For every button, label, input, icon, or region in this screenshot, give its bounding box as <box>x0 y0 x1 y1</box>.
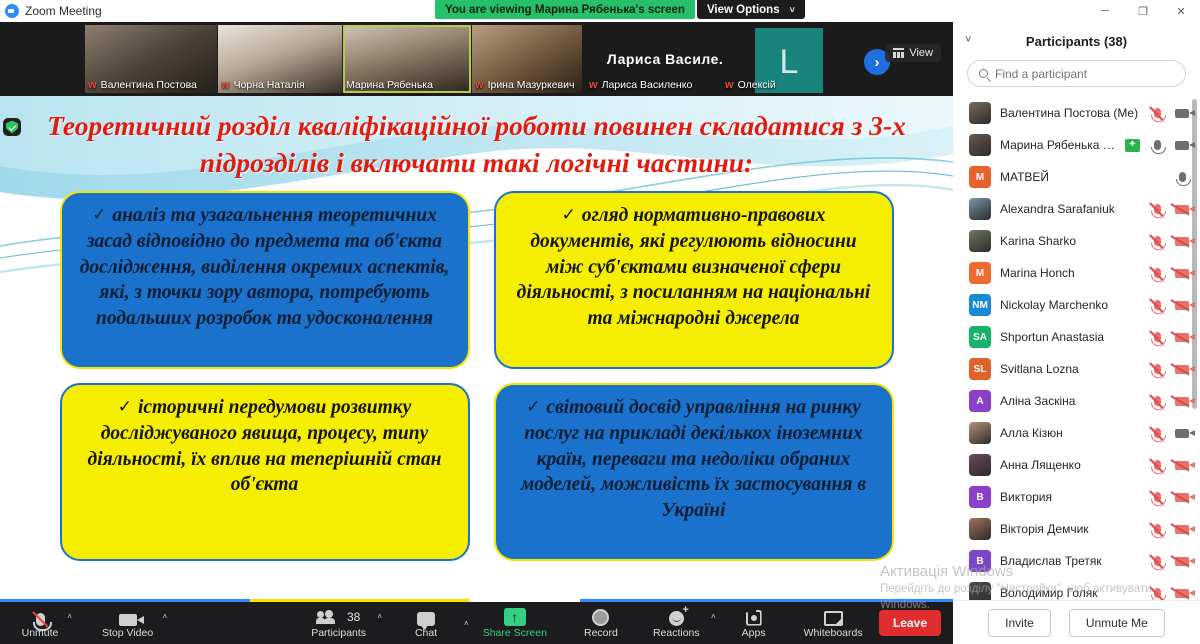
camera-off-icon[interactable] <box>1175 269 1189 278</box>
zoom-logo-icon <box>5 4 19 18</box>
stop-video-label: Stop Video <box>102 627 153 639</box>
mic-toggle[interactable] <box>1149 268 1165 278</box>
avatar: В <box>969 550 991 572</box>
mic-toggle[interactable] <box>1149 524 1165 534</box>
unmute-me-button[interactable]: Unmute Me <box>1069 609 1165 637</box>
camera-off-icon[interactable] <box>1175 365 1189 374</box>
participant-row[interactable]: ВВиктория <box>953 481 1200 513</box>
participant-name: Владислав Третяк <box>1000 554 1140 568</box>
view-options-button[interactable]: View Options ˅ <box>697 0 805 19</box>
camera-icon <box>119 608 137 626</box>
check-icon: ✓ <box>118 397 132 416</box>
grid-icon <box>893 48 904 58</box>
video-thumbnail[interactable]: w Ірина Мазуркевич <box>472 25 582 93</box>
record-button[interactable]: Record <box>575 602 627 644</box>
mic-toggle[interactable] <box>1149 236 1165 246</box>
participant-status-icons <box>1149 300 1190 310</box>
mic-off-icon[interactable] <box>1154 556 1161 566</box>
apps-icon <box>746 608 762 626</box>
mic-toggle[interactable] <box>1149 396 1165 406</box>
thumbnail-label: Марина Рябенька <box>346 79 468 91</box>
chat-button[interactable]: Chat <box>400 602 452 644</box>
mic-toggle[interactable] <box>1149 364 1165 374</box>
share-caret-icon[interactable]: ˄ <box>464 619 469 628</box>
participant-status-icons <box>1149 268 1190 278</box>
search-icon <box>979 69 988 78</box>
participant-status-icons <box>1149 364 1190 374</box>
bullet-box: ✓огляд нормативно-правових документів, я… <box>494 191 894 369</box>
camera-toggle[interactable] <box>1174 397 1190 406</box>
camera-off-icon[interactable] <box>1175 557 1189 566</box>
participants-button[interactable]: 38 Participants ˄ <box>305 602 372 644</box>
participant-status-icons <box>1149 396 1190 406</box>
check-icon: ✓ <box>562 205 576 224</box>
participants-panel-title: Participants (38) <box>953 34 1200 49</box>
avatar: A <box>969 390 991 412</box>
camera-off-icon[interactable] <box>1175 237 1189 246</box>
mic-off-icon[interactable] <box>1154 524 1161 534</box>
camera-toggle[interactable] <box>1174 109 1190 118</box>
participant-row[interactable]: SLSvitlana Lozna <box>953 353 1200 385</box>
invite-button[interactable]: Invite <box>988 609 1051 637</box>
participant-row[interactable]: Karina Sharko <box>953 225 1200 257</box>
camera-toggle[interactable] <box>1174 269 1190 278</box>
camera-toggle[interactable] <box>1174 333 1190 342</box>
participant-row[interactable]: MMarina Honch <box>953 257 1200 289</box>
participants-list[interactable]: Валентина Постова (Me)Марина Рябенька (H… <box>953 97 1200 600</box>
video-thumbnail[interactable]: L w Олексій <box>722 25 854 93</box>
mic-off-icon: w <box>221 80 230 91</box>
viewing-screen-label: You are viewing Марина Рябенька's screen <box>435 0 695 19</box>
participant-status-icons <box>1149 332 1190 342</box>
participant-row[interactable]: Алла Кізюн <box>953 417 1200 449</box>
mic-off-icon[interactable] <box>1154 300 1161 310</box>
chevron-down-icon[interactable]: ˅ <box>965 34 971 46</box>
avatar: В <box>969 486 991 508</box>
camera-on-icon[interactable] <box>1175 141 1189 150</box>
avatar <box>969 134 991 156</box>
mic-toggle[interactable] <box>1149 588 1165 598</box>
video-options-caret-icon[interactable]: ˄ <box>163 612 168 621</box>
apps-label: Apps <box>742 627 766 639</box>
record-label: Record <box>584 627 618 639</box>
window-title: Zoom Meeting <box>25 4 102 18</box>
share-screen-icon <box>504 608 526 626</box>
participants-panel-header: ˅ Participants (38) <box>953 22 1200 60</box>
participants-panel-footer: Invite Unmute Me <box>953 600 1200 644</box>
participant-status-icons <box>1149 204 1190 214</box>
avatar: M <box>969 262 991 284</box>
participants-caret-icon[interactable]: ˄ <box>377 612 382 621</box>
stop-video-button[interactable]: Stop Video ˄ <box>96 602 159 644</box>
participant-name: Вікторія Демчик <box>1000 522 1140 536</box>
camera-toggle[interactable] <box>1174 365 1190 374</box>
camera-toggle[interactable] <box>1174 493 1190 502</box>
camera-toggle[interactable] <box>1174 461 1190 470</box>
avatar <box>969 230 991 252</box>
mic-off-icon[interactable] <box>1154 588 1161 598</box>
participants-label: Participants <box>311 627 366 639</box>
participant-name: Ірина Мазуркевич <box>488 79 575 91</box>
mic-off-icon: w <box>725 80 734 91</box>
participant-name: Shportun Anastasia <box>1000 330 1140 344</box>
video-thumbnail[interactable]: w Валентина Постова <box>85 25 217 93</box>
apps-button[interactable]: Apps <box>728 602 780 644</box>
mic-off-icon: w <box>88 80 97 91</box>
mic-off-icon[interactable] <box>1154 108 1161 118</box>
slide-bullet-boxes: ✓аналіз та узагальнення теоретичних заса… <box>0 191 953 561</box>
camera-toggle[interactable] <box>1174 237 1190 246</box>
whiteboards-label: Whiteboards <box>804 627 863 639</box>
participant-row[interactable]: SAShportun Anastasia <box>953 321 1200 353</box>
avatar <box>969 102 991 124</box>
bullet-box: ✓світовий досвід управління на ринку пос… <box>494 383 894 561</box>
camera-off-icon[interactable] <box>1175 205 1189 214</box>
participant-name: Олексій <box>738 79 776 91</box>
chevron-down-icon: ˅ <box>790 5 795 15</box>
participant-name: Nickolay Marchenko <box>1000 298 1140 312</box>
mic-off-icon <box>36 608 45 626</box>
mic-off-icon[interactable] <box>1154 204 1161 214</box>
camera-on-icon[interactable] <box>1175 429 1189 438</box>
whiteboards-button[interactable]: Whiteboards <box>798 602 869 644</box>
mic-toggle[interactable] <box>1149 108 1165 118</box>
mic-toggle[interactable] <box>1149 428 1165 438</box>
avatar <box>969 454 991 476</box>
camera-toggle[interactable] <box>1174 557 1190 566</box>
participant-name: Алла Кізюн <box>1000 426 1140 440</box>
mic-toggle[interactable] <box>1149 332 1165 342</box>
unmute-button[interactable]: Unmute ˄ <box>14 602 66 644</box>
participant-name: Чорна Наталія <box>234 79 305 91</box>
camera-on-icon[interactable] <box>1175 109 1189 118</box>
search-input[interactable] <box>995 67 1174 81</box>
avatar: SA <box>969 326 991 348</box>
bullet-text: історичні передумови розвитку досліджува… <box>88 397 442 495</box>
camera-off-icon[interactable] <box>1175 333 1189 342</box>
host-badge-icon: ✦ <box>1125 139 1140 152</box>
reactions-label: Reactions <box>653 627 700 639</box>
mic-off-icon[interactable] <box>1154 364 1161 374</box>
participant-name: Валентина Постова <box>101 79 197 91</box>
slide-title: Теоретичний розділ кваліфікаційної робот… <box>0 96 953 181</box>
participant-name: Аліна Заскіна <box>1000 394 1140 408</box>
participant-row[interactable]: Alexandra Sarafaniuk <box>953 193 1200 225</box>
thumbnail-label: w Олексій <box>725 79 851 91</box>
mic-off-icon[interactable] <box>1154 396 1161 406</box>
chat-icon <box>417 608 435 626</box>
camera-toggle[interactable] <box>1174 301 1190 310</box>
participant-status-icons <box>1149 524 1190 534</box>
share-screen-label: Share Screen <box>483 627 547 639</box>
record-icon <box>592 608 609 626</box>
people-icon: 38 <box>317 608 360 626</box>
avatar: NM <box>969 294 991 316</box>
camera-off-icon[interactable] <box>1175 397 1189 406</box>
shared-slide: Теоретичний розділ кваліфікаційної робот… <box>0 96 953 624</box>
participant-row[interactable]: Марина Рябенька (Host)✦ <box>953 129 1200 161</box>
participant-status-icons <box>1149 492 1190 502</box>
bullet-text: світовий досвід управління на ринку посл… <box>521 397 866 521</box>
check-icon: ✓ <box>92 205 106 224</box>
mic-off-icon: w <box>475 80 484 91</box>
maximize-button[interactable]: ❐ <box>1124 0 1162 22</box>
mic-toggle[interactable] <box>1149 204 1165 214</box>
minimize-button[interactable]: ─ <box>1086 0 1124 22</box>
mic-toggle[interactable] <box>1149 300 1165 310</box>
participant-status-icons <box>1149 460 1190 470</box>
participant-name: Лариса Василенко <box>602 79 693 91</box>
avatar: SL <box>969 358 991 380</box>
participant-name: Марина Рябенька (Host) <box>1000 138 1116 152</box>
participant-name: Svitlana Lozna <box>1000 362 1140 376</box>
thumbnail-label: w Чорна Наталія <box>221 79 339 91</box>
mic-on-icon[interactable] <box>1154 140 1161 150</box>
mic-toggle[interactable] <box>1149 492 1165 502</box>
meeting-toolbar: Unmute ˄ Stop Video ˄ 38 <box>0 602 953 644</box>
camera-toggle[interactable] <box>1174 525 1190 534</box>
mic-toggle[interactable] <box>1149 460 1165 470</box>
reactions-button[interactable]: Reactions ˄ <box>647 602 706 644</box>
audio-options-caret-icon[interactable]: ˄ <box>67 612 72 621</box>
bullet-box: ✓аналіз та узагальнення теоретичних заса… <box>60 191 470 369</box>
reactions-caret-icon[interactable]: ˄ <box>711 612 716 621</box>
mic-off-icon[interactable] <box>1154 236 1161 246</box>
mic-toggle[interactable] <box>1149 556 1165 566</box>
thumbnail-label: w Валентина Постова <box>88 79 214 91</box>
participants-panel: ˅ Participants (38) Валентина Постова (M… <box>953 22 1200 644</box>
video-filmstrip: w Валентина Постова w Чорна Наталія Мари… <box>0 22 953 96</box>
thumbnail-label: w Ірина Мазуркевич <box>475 79 579 91</box>
search-container <box>953 60 1200 97</box>
participant-name: Виктория <box>1000 490 1140 504</box>
participant-row[interactable]: Володимир Голяк <box>953 577 1200 600</box>
mic-off-icon[interactable] <box>1154 332 1161 342</box>
window-controls: ─ ❐ ✕ <box>1086 0 1200 22</box>
participant-row[interactable]: Вікторія Демчик <box>953 513 1200 545</box>
camera-toggle[interactable] <box>1174 589 1190 598</box>
reactions-icon <box>669 608 684 626</box>
close-button[interactable]: ✕ <box>1162 0 1200 22</box>
participant-status-icons <box>1149 236 1190 246</box>
check-icon: ✓ <box>526 397 540 416</box>
participant-row[interactable]: AАліна Заскіна <box>953 385 1200 417</box>
participant-name: Karina Sharko <box>1000 234 1140 248</box>
leave-button[interactable]: Leave <box>879 610 941 636</box>
view-options-label: View Options <box>707 4 780 16</box>
participant-row[interactable]: Анна Лященко <box>953 449 1200 481</box>
search-box[interactable] <box>967 60 1186 87</box>
camera-off-icon[interactable] <box>1175 301 1189 310</box>
avatar <box>969 582 991 600</box>
avatar <box>969 518 991 540</box>
bullet-box: ✓історичні передумови розвитку досліджув… <box>60 383 470 561</box>
mic-off-icon[interactable] <box>1154 428 1161 438</box>
mic-off-icon[interactable] <box>1154 492 1161 502</box>
participant-status-icons <box>1149 108 1190 118</box>
camera-off-icon[interactable] <box>1175 525 1189 534</box>
mic-off-icon[interactable] <box>1154 460 1161 470</box>
participants-count: 38 <box>347 610 360 624</box>
whiteboard-icon <box>824 608 843 626</box>
mic-toggle[interactable] <box>1174 172 1190 182</box>
video-thumbnail-active[interactable]: Марина Рябенька <box>343 25 471 93</box>
participant-name: Alexandra Sarafaniuk <box>1000 202 1140 216</box>
camera-toggle[interactable] <box>1174 429 1190 438</box>
camera-off-icon[interactable] <box>1175 493 1189 502</box>
participant-row[interactable]: ВВладислав Третяк <box>953 545 1200 577</box>
view-label: View <box>909 47 933 59</box>
participant-name: Марина Рябенька <box>346 79 433 91</box>
mic-off-icon: w <box>589 80 598 91</box>
mic-on-icon[interactable] <box>1179 172 1186 182</box>
participant-name: Валентина Постова (Me) <box>1000 106 1140 120</box>
participant-status-icons <box>1149 556 1190 566</box>
participant-status-icons <box>1149 428 1190 438</box>
participant-name: Анна Лященко <box>1000 458 1140 472</box>
camera-toggle[interactable] <box>1174 205 1190 214</box>
participant-status-icons <box>1149 588 1190 598</box>
participant-name: Marina Honch <box>1000 266 1140 280</box>
share-screen-button[interactable]: Share Screen <box>477 602 553 644</box>
avatar <box>969 422 991 444</box>
mic-off-icon[interactable] <box>1154 268 1161 278</box>
view-layout-button[interactable]: View <box>885 44 941 62</box>
meeting-area: w Валентина Постова w Чорна Наталія Мари… <box>0 22 953 644</box>
bullet-text: аналіз та узагальнення теоретичних засад… <box>80 205 450 329</box>
security-shield-icon <box>3 118 21 136</box>
share-banner: You are viewing Марина Рябенька's screen… <box>435 0 805 19</box>
participant-name: МАТВЕЙ <box>1000 170 1140 184</box>
avatar: M <box>969 166 991 188</box>
mic-toggle[interactable] <box>1149 140 1165 150</box>
participant-name: Володимир Голяк <box>1000 586 1140 600</box>
avatar <box>969 198 991 220</box>
participant-row[interactable]: Валентина Постова (Me) <box>953 97 1200 129</box>
participant-status-icons: ✦ <box>1125 139 1190 152</box>
participant-status-icons <box>1149 172 1190 182</box>
camera-off-icon[interactable] <box>1175 589 1189 598</box>
camera-toggle[interactable] <box>1174 141 1190 150</box>
participant-row[interactable]: MМАТВЕЙ <box>953 161 1200 193</box>
video-thumbnail[interactable]: w Чорна Наталія <box>218 25 342 93</box>
participant-row[interactable]: NMNickolay Marchenko <box>953 289 1200 321</box>
camera-off-icon[interactable] <box>1175 461 1189 470</box>
